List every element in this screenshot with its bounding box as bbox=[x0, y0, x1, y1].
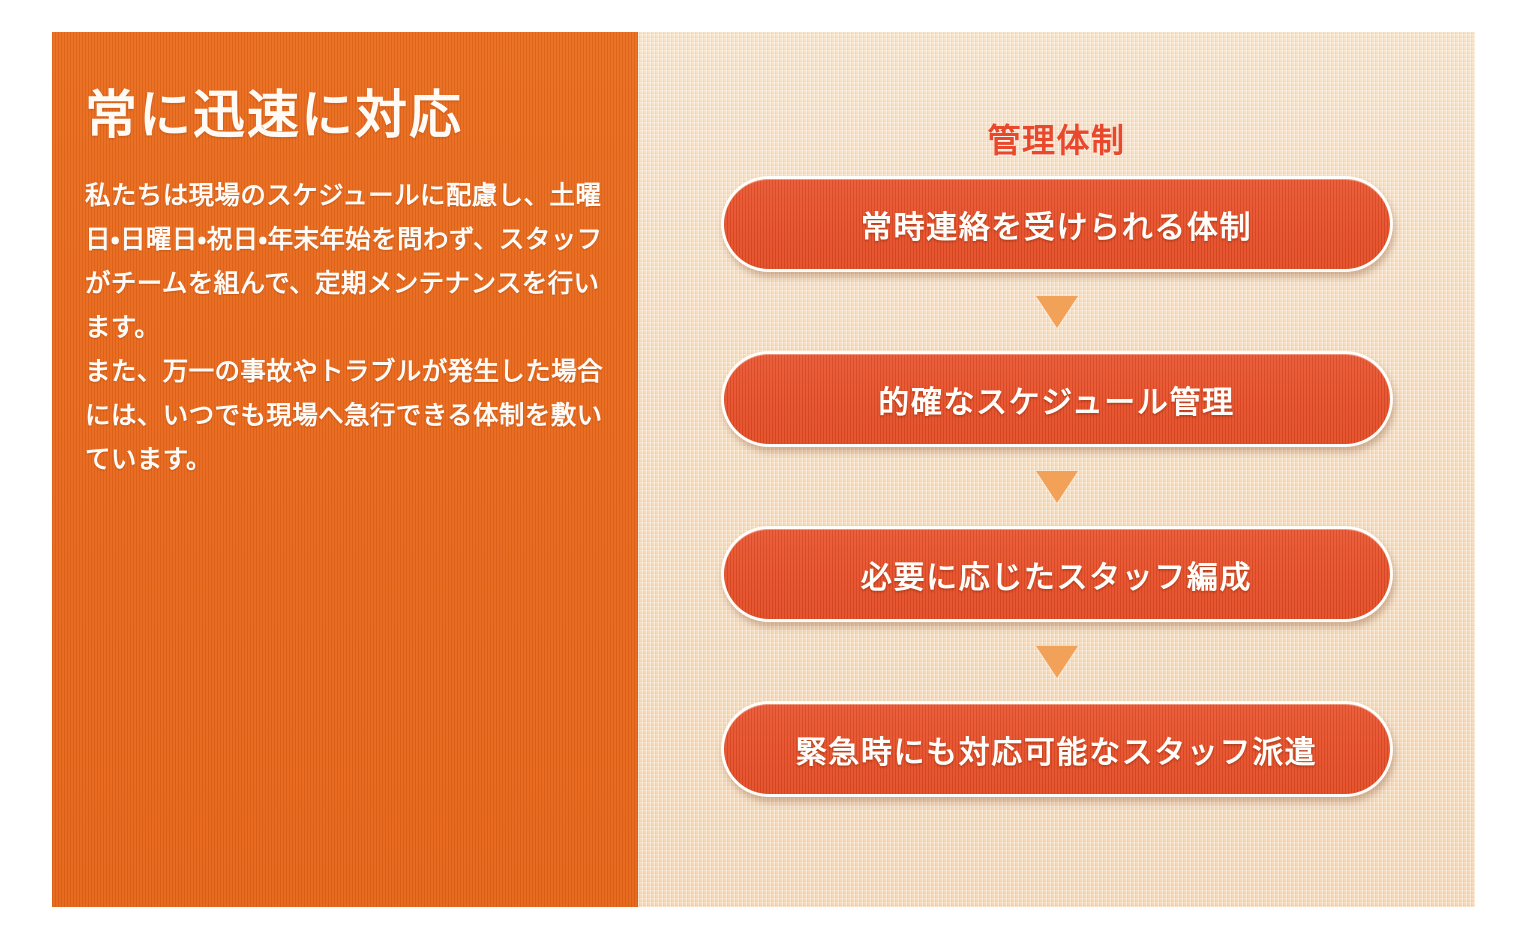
triangle-down-icon-2 bbox=[1036, 471, 1078, 503]
management-flow-chart: 常時連絡を受けられる体制 的確なスケジュール管理 必要に応じたスタッフ編成 緊急… bbox=[638, 176, 1475, 797]
flow-step-3: 必要に応じたスタッフ編成 bbox=[721, 526, 1393, 622]
flow-step-1: 常時連絡を受けられる体制 bbox=[721, 176, 1393, 272]
left-orange-panel: 常に迅速に対応 私たちは現場のスケジュールに配慮し、土曜日・日曜日・祝日・年末年… bbox=[52, 32, 638, 907]
flow-step-3-label: 必要に応じたスタッフ編成 bbox=[861, 552, 1252, 597]
triangle-down-icon-3 bbox=[1036, 646, 1078, 678]
right-cream-panel: 管理体制 常時連絡を受けられる体制 的確なスケジュール管理 必要に応じたスタッフ… bbox=[638, 32, 1475, 907]
page-root: 常に迅速に対応 私たちは現場のスケジュールに配慮し、土曜日・日曜日・祝日・年末年… bbox=[0, 0, 1513, 951]
flow-step-4-label: 緊急時にも対応可能なスタッフ派遣 bbox=[796, 727, 1318, 772]
left-panel-heading: 常に迅速に対応 bbox=[85, 88, 608, 146]
flow-step-4: 緊急時にも対応可能なスタッフ派遣 bbox=[721, 701, 1393, 797]
brochure-panel: 常に迅速に対応 私たちは現場のスケジュールに配慮し、土曜日・日曜日・祝日・年末年… bbox=[52, 32, 1475, 907]
left-panel-paragraph-2: また、万一の事故やトラブルが発生した場合には、いつでも現場へ急行できる体制を敷い… bbox=[85, 350, 605, 482]
flow-step-2: 的確なスケジュール管理 bbox=[721, 351, 1393, 447]
flow-step-2-label: 的確なスケジュール管理 bbox=[878, 377, 1234, 422]
flow-chart-heading: 管理体制 bbox=[638, 114, 1475, 162]
triangle-down-icon-1 bbox=[1036, 296, 1078, 328]
left-panel-paragraph-1: 私たちは現場のスケジュールに配慮し、土曜日・日曜日・祝日・年末年始を問わず、スタ… bbox=[85, 174, 605, 350]
flow-step-1-label: 常時連絡を受けられる体制 bbox=[861, 202, 1252, 247]
